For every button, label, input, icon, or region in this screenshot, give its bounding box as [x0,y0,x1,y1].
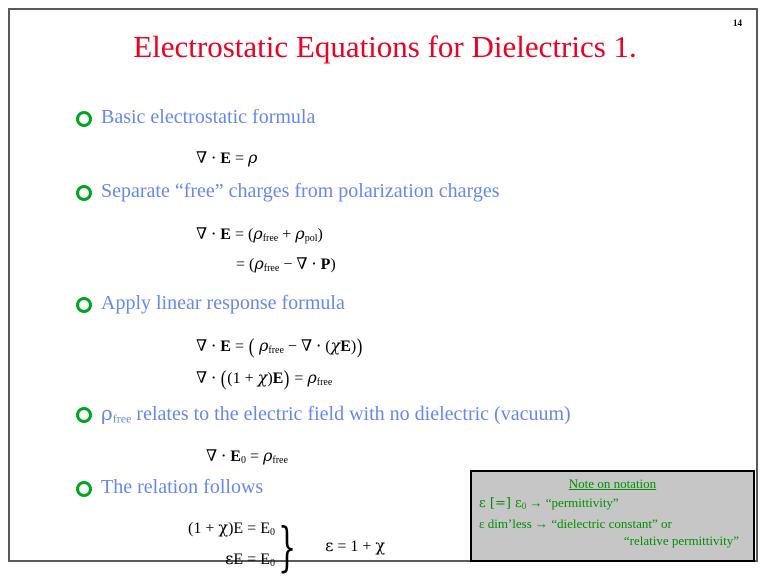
bullet-label-rest: relates to the electric field with no di… [131,403,570,425]
equation-epsilonE-equals-E0: εE = E0 [225,546,275,577]
page-number: 14 [733,18,742,28]
bullet-label: The relation follows [101,476,263,498]
equation-brace-group: (1 + χ)E = E0 εE = E0 } ε = 1 + χ [188,515,385,577]
equation-divE-rhofree-minus-divP: = (ρfree − ∇ · P) [236,254,336,274]
bullet-item-rhofree-relates-to-field: ρfree relates to the electric field with… [76,402,571,430]
equation-divE-rhofree-plus-rhopol: ∇ · E = (ρfree + ρpol) [196,224,323,244]
slide-frame: 14 Electrostatic Equations for Dielectri… [8,8,758,562]
bullet-item-the-relation-follows: The relation follows [76,476,263,498]
equation-1pluschi-E-equals-E0: (1 + χ)E = E0 [188,515,275,546]
bullet-item-basic-electrostatic-formula: Basic electrostatic formula [76,106,315,128]
circle-bullet-icon [76,407,92,423]
note-on-notation-box: Note on notation ε [=] ε0 → “permittivit… [470,470,755,562]
note-line-permittivity: ε [=] ε0 → “permittivity” [472,494,753,515]
note-line-dielectric-constant: ε dim’less → “dielectric constant” or [472,515,753,532]
equation-div-1pluschi-E-equals-rhofree: ∇ · ((1 + χ)E) = ρfree [196,364,332,389]
equation-divE-rhofree-minus-div-chiE: ∇ · E = ( ρfree − ∇ · (χE)) [196,332,363,357]
bullet-label: ρfree relates to the electric field with… [101,402,571,430]
bullet-label-subscript: free [113,412,132,426]
bullet-label: Separate “free” charges from polarizatio… [101,180,500,202]
circle-bullet-icon [76,111,92,127]
note-title: Note on notation [472,475,753,492]
bullet-label: Basic electrostatic formula [101,106,315,128]
equation-divE-rho: ∇ · E = ρ [196,148,257,168]
bullet-item-separate-free-charges: Separate “free” charges from polarizatio… [76,180,500,202]
page-title: Electrostatic Equations for Dielectrics … [10,29,760,65]
circle-bullet-icon [76,481,92,497]
equation-divE0-equals-rhofree: ∇ · E0 = ρfree [206,446,288,466]
note-line-relative-permittivity: “relative permittivity” [472,532,753,549]
bullet-label-symbol: ρ [101,401,113,425]
note-line-1-suffix: → “permittivity” [526,495,618,510]
note-line-1-prefix: ε [=] ε [479,496,522,511]
circle-bullet-icon [76,185,92,201]
bullet-item-apply-linear-response: Apply linear response formula [76,292,345,314]
bullet-label: Apply linear response formula [101,292,345,314]
brace-equations: (1 + χ)E = E0 εE = E0 [188,515,275,577]
equation-epsilon-equals-1-plus-chi: ε = 1 + χ [325,536,385,556]
circle-bullet-icon [76,297,92,313]
